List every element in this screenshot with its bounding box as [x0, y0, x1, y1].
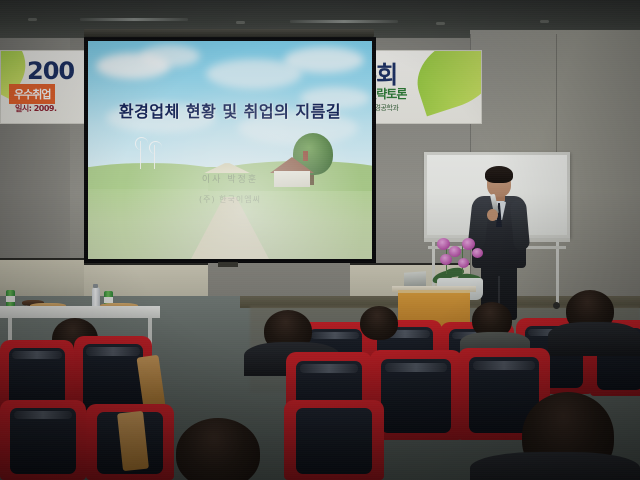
- orchid-bloom: [472, 248, 483, 258]
- slide-presenter-name: 이사 박정훈: [88, 172, 372, 185]
- seat-cushion: [296, 408, 372, 474]
- refreshment-table: [0, 306, 160, 318]
- ceiling-light-strip: [290, 20, 398, 23]
- ceiling-light-strip: [80, 18, 188, 21]
- lecture-hall-photo: 200 우수취업 일시: 2009. 수회 강 전략토론 학교 환경공학과: [0, 0, 640, 480]
- ceiling-fixture: [436, 22, 445, 25]
- banner-leaf-graphic: [407, 50, 482, 116]
- seat-highlight: [300, 364, 358, 373]
- seat-highlight: [385, 363, 448, 372]
- banner-year: 200: [27, 57, 74, 85]
- slide-house-chimney: [303, 151, 308, 161]
- slide-turbine-blades: [149, 141, 162, 154]
- banner-date: 일시: 2009.: [15, 103, 57, 114]
- ceiling-fixture: [540, 20, 549, 23]
- slide-company-name: (주) 한국이엠씨: [88, 194, 372, 205]
- audience-head: [176, 418, 260, 480]
- slide-title: 환경업체 현황 및 취업의 지름길: [88, 98, 372, 122]
- orchid-bloom: [440, 254, 452, 265]
- audience-shoulders: [548, 322, 640, 356]
- speaker-hand: [487, 209, 498, 221]
- audience-shoulders: [470, 452, 640, 480]
- seat-highlight: [12, 351, 62, 359]
- whiteboard-wheel: [553, 302, 560, 309]
- seat: [0, 400, 86, 480]
- banner-highlight: 우수취업: [9, 84, 55, 104]
- slide-turbine-blades: [135, 137, 148, 150]
- projection-screen: 환경업체 현황 및 취업의 지름길 이사 박정훈 (주) 한국이엠씨: [84, 37, 376, 263]
- speaker-hair: [485, 166, 513, 183]
- audience-head: [360, 306, 398, 340]
- projection-screen-roller: [84, 29, 374, 37]
- seat-highlight: [86, 347, 139, 355]
- orchid-bloom: [437, 238, 450, 250]
- seat-highlight: [473, 361, 536, 370]
- slide-cloud: [284, 47, 364, 73]
- slide-cloud: [140, 45, 200, 67]
- seat-highlight: [311, 332, 359, 339]
- can-label: [6, 296, 15, 302]
- wall-panel-center-left: [84, 263, 208, 299]
- ceiling-fixture: [28, 18, 37, 21]
- orchid-bloom: [458, 258, 469, 268]
- seat-highlight: [14, 411, 72, 419]
- projection-screen-weight: [218, 262, 238, 267]
- ceiling-fixture: [236, 21, 245, 24]
- bottle-cap: [93, 284, 98, 288]
- whiteboard-leg: [556, 242, 559, 304]
- presentation-slide: 환경업체 현황 및 취업의 지름길 이사 박정훈 (주) 한국이엠씨: [88, 41, 372, 259]
- seat: [284, 400, 384, 480]
